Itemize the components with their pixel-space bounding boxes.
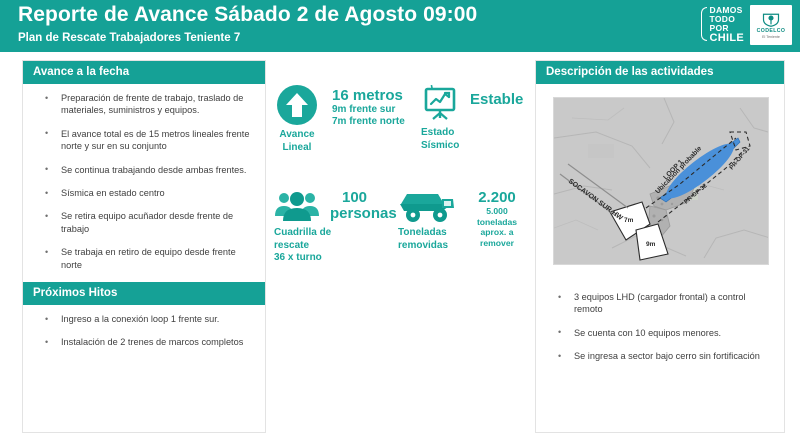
people-group-icon bbox=[274, 190, 320, 224]
kpi-toneladas-label: Toneladas removidas bbox=[398, 227, 448, 252]
kpi-cuadrilla-value: 100 bbox=[342, 190, 367, 206]
slide-page: Reporte de Avance Sábado 2 de Agosto 09:… bbox=[0, 0, 800, 448]
kpi-estado-sismico: Estado Sísmico bbox=[420, 84, 460, 152]
list-item: Instalación de 2 trenes de marcos comple… bbox=[39, 336, 255, 348]
kpi-label-line: Lineal bbox=[276, 142, 318, 155]
kpi-label-line: Cuadrilla de bbox=[274, 227, 331, 240]
kpi-label-line: 36 x turno bbox=[274, 252, 331, 265]
map-label-7m: 7m bbox=[624, 217, 634, 224]
kpi-estado-sismico-value: Estable bbox=[470, 92, 523, 108]
list-item: Se retira equipo acuñador desde frente d… bbox=[39, 210, 255, 235]
kpi-toneladas-detail-1: 5.000 bbox=[486, 206, 508, 217]
brand-block: DAMOS TODO POR CHILE CODELCO El Teniente bbox=[701, 3, 793, 47]
list-item: El avance total es de 15 metros lineales… bbox=[39, 128, 255, 153]
codelco-wordmark: CODELCO bbox=[757, 28, 786, 34]
list-item: 3 equipos LHD (cargador frontal) a contr… bbox=[552, 291, 776, 316]
bracket-icon bbox=[701, 7, 707, 41]
kpi-estado-sismico-label: Estado Sísmico bbox=[421, 127, 459, 152]
codelco-tagline: El Teniente bbox=[762, 35, 780, 39]
page-subtitle: Plan de Rescate Trabajadores Teniente 7 bbox=[18, 32, 240, 44]
slogan-line-4: CHILE bbox=[710, 33, 745, 44]
kpi-toneladas-removidas: Toneladas removidas bbox=[398, 190, 456, 252]
list-item: Se trabaja en retiro de equipo desde fre… bbox=[39, 246, 255, 271]
map-label-9m: 9m bbox=[646, 241, 656, 248]
kpi-zone: Avance Lineal 16 metros 9m frente sur 7m… bbox=[272, 72, 530, 312]
damos-todo-por-chile-logo: DAMOS TODO POR CHILE bbox=[701, 6, 745, 45]
dump-truck-icon bbox=[398, 190, 456, 224]
kpi-label-line: Avance bbox=[276, 129, 318, 142]
codelco-emblem-icon bbox=[762, 12, 780, 27]
kpi-toneladas-detail-2: toneladas bbox=[477, 217, 517, 228]
page-title: Reporte de Avance Sábado 2 de Agosto 09:… bbox=[18, 3, 477, 27]
kpi-toneladas-detail-4: remover bbox=[480, 238, 514, 249]
kpi-label-line: rescate bbox=[274, 240, 331, 253]
kpi-cuadrilla-values: 100 personas bbox=[330, 190, 397, 222]
avance-a-la-fecha-list: Preparación de frente de trabajo, trasla… bbox=[23, 92, 265, 271]
kpi-avance-detail-2: 7m frente norte bbox=[332, 116, 405, 128]
mine-map-image: 7m 9m SOCAVON SUR HW LOOP 1 Ubicación pr… bbox=[553, 97, 769, 265]
up-arrow-circle-icon bbox=[276, 84, 318, 126]
kpi-cuadrilla-label: Cuadrilla de rescate 36 x turno bbox=[274, 227, 331, 265]
kpi-label-line: removidas bbox=[398, 240, 448, 253]
list-item: Ingreso a la conexión loop 1 frente sur. bbox=[39, 313, 255, 325]
kpi-toneladas-values: 2.200 5.000 toneladas aprox. a remover bbox=[468, 190, 526, 248]
kpi-avance-lineal-label: Avance Lineal bbox=[276, 129, 318, 154]
proximos-hitos-header: Próximos Hitos bbox=[23, 282, 265, 305]
kpi-toneladas-detail-3: aprox. a bbox=[481, 227, 514, 238]
kpi-cuadrilla-unit: personas bbox=[330, 206, 397, 222]
kpi-sismo-value: Estable bbox=[470, 92, 523, 108]
descripcion-actividades-list: 3 equipos LHD (cargador frontal) a contr… bbox=[536, 291, 786, 374]
codelco-logo: CODELCO El Teniente bbox=[750, 5, 792, 45]
seismograph-board-icon bbox=[420, 84, 460, 124]
descripcion-actividades-header: Descripción de las actividades bbox=[536, 61, 784, 84]
kpi-avance-detail-1: 9m frente sur bbox=[332, 104, 395, 116]
right-panel: Descripción de las actividades bbox=[535, 60, 785, 433]
proximos-hitos-list: Ingreso a la conexión loop 1 frente sur.… bbox=[23, 313, 265, 349]
left-panel: Avance a la fecha Preparación de frente … bbox=[22, 60, 266, 433]
list-item: Se ingresa a sector bajo cerro sin forti… bbox=[552, 350, 776, 362]
list-item: Sísmica en estado centro bbox=[39, 187, 255, 199]
avance-a-la-fecha-header: Avance a la fecha bbox=[23, 61, 265, 84]
mine-map-svg: 7m 9m SOCAVON SUR HW LOOP 1 Ubicación pr… bbox=[554, 98, 769, 265]
kpi-avance-value: 16 metros bbox=[332, 88, 403, 104]
slide-header: Reporte de Avance Sábado 2 de Agosto 09:… bbox=[0, 0, 800, 52]
list-item: Se continua trabajando desde ambas frent… bbox=[39, 164, 255, 176]
kpi-cuadrilla-rescate: Cuadrilla de rescate 36 x turno bbox=[274, 190, 331, 265]
kpi-label-line: Toneladas bbox=[398, 227, 448, 240]
kpi-toneladas-value: 2.200 bbox=[478, 190, 516, 206]
list-item: Se cuenta con 10 equipos menores. bbox=[552, 327, 776, 339]
kpi-label-line: Sísmico bbox=[421, 140, 459, 153]
kpi-avance-lineal: Avance Lineal bbox=[276, 84, 318, 154]
list-item: Preparación de frente de trabajo, trasla… bbox=[39, 92, 255, 117]
kpi-label-line: Estado bbox=[421, 127, 459, 140]
